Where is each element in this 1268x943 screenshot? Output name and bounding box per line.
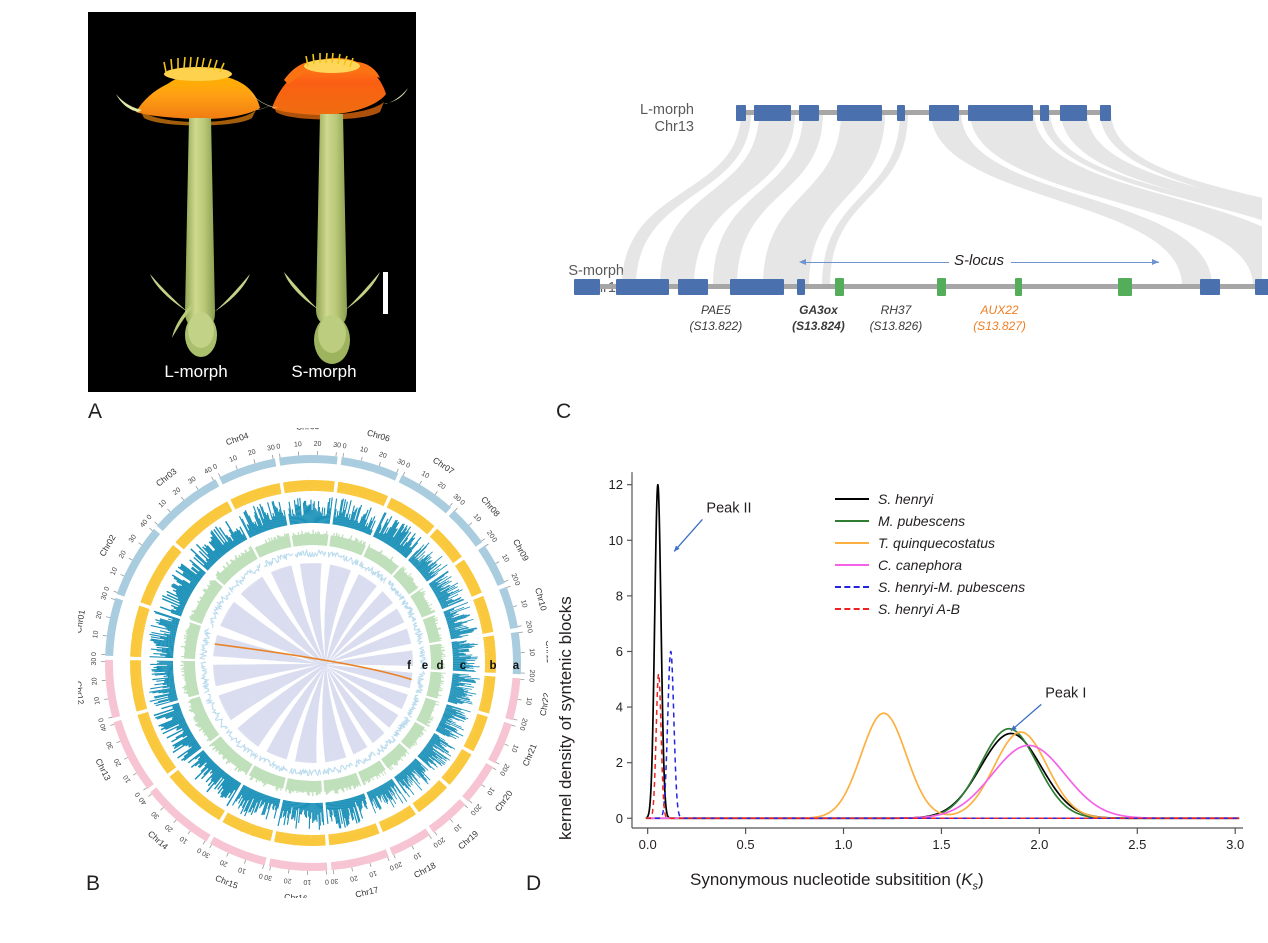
scale-bar bbox=[383, 272, 388, 314]
circos-track-segment bbox=[381, 743, 409, 770]
circos-track-segment bbox=[417, 733, 455, 770]
chr-name-Chr20: Chr20 bbox=[493, 788, 515, 813]
chr-tick-label: 20 bbox=[247, 449, 257, 458]
circos-line-segment bbox=[201, 661, 208, 692]
chr-tick-label: 10 bbox=[359, 446, 368, 455]
chr-tick bbox=[174, 820, 177, 823]
chr-name-Chr15: Chr15 bbox=[214, 873, 240, 891]
chr-tick-label: 20 bbox=[378, 451, 388, 460]
chr-tick-label: 10 bbox=[420, 470, 430, 480]
circos-track-segment bbox=[149, 611, 180, 659]
slocus-label: S-locus bbox=[954, 252, 1004, 269]
chr-tick-label: 0 bbox=[98, 717, 106, 723]
ring-letter-d: d bbox=[436, 660, 443, 672]
chr-name-Chr18: Chr18 bbox=[412, 860, 438, 880]
circos-track-segment bbox=[423, 615, 442, 643]
chr-tick-label: 20 bbox=[113, 757, 123, 767]
l-morph-exon bbox=[1040, 105, 1049, 121]
chr-name-Chr04: Chr04 bbox=[224, 430, 250, 447]
chr-tick-label: 10 bbox=[485, 786, 495, 796]
x-tick-label: 1.5 bbox=[932, 837, 950, 852]
chr-tick-label: 10 bbox=[524, 697, 532, 706]
s-morph-chromosome-bar bbox=[574, 284, 1268, 289]
l-morph-exon bbox=[736, 105, 746, 121]
chr-tick-label: 10 bbox=[412, 850, 422, 860]
chr-tick-label: 30 bbox=[267, 444, 276, 452]
slocus-arrow-right bbox=[1011, 262, 1159, 263]
legend-swatch-s-henryi-a-b bbox=[835, 608, 869, 610]
chr-tick bbox=[352, 867, 353, 871]
chr-tick bbox=[244, 860, 245, 864]
chr-tick bbox=[218, 473, 220, 477]
chr-tick bbox=[518, 699, 522, 700]
gene-label-aux22: AUX22(S13.827) bbox=[955, 302, 1045, 334]
chr-name-Chr14: Chr14 bbox=[146, 829, 170, 852]
chr-tick bbox=[143, 788, 146, 790]
chart-legend: S. henryi M. pubescens T. quinquecostatu… bbox=[835, 488, 1025, 620]
chr-name-Chr19: Chr19 bbox=[456, 828, 480, 851]
legend-swatch-s-henryi bbox=[835, 498, 869, 500]
chr-tick-label: 30 bbox=[187, 476, 197, 486]
chr-tick-label: 10 bbox=[519, 599, 528, 608]
l-morph-exon bbox=[897, 105, 905, 121]
l-morph-exon bbox=[799, 105, 819, 121]
x-axis-title: Synonymous nucleotide subsitition (Ks) bbox=[690, 870, 984, 892]
chr-tick bbox=[434, 832, 436, 835]
chr-tick bbox=[450, 503, 453, 506]
circos-track-segment bbox=[232, 785, 280, 820]
circos-line-segment bbox=[323, 763, 353, 774]
chr-tick-label: 10 bbox=[303, 878, 311, 885]
chr-tick bbox=[485, 544, 488, 546]
chr-tick-label: 30 bbox=[264, 873, 273, 881]
chr-tick-label: 10 bbox=[122, 773, 132, 783]
chr-tick bbox=[388, 857, 389, 861]
chr-tick-label: 40 bbox=[203, 466, 213, 476]
legend-item[interactable]: T. quinquecostatus bbox=[835, 532, 1025, 554]
chr-tick bbox=[106, 617, 110, 618]
ideogram-Chr16 bbox=[269, 858, 328, 871]
chr-tick bbox=[519, 632, 523, 633]
chr-tick-label: 0 bbox=[103, 586, 111, 592]
chr-name-Chr07: Chr07 bbox=[431, 455, 456, 476]
circos-line-segment bbox=[355, 752, 375, 767]
chr-tick-label: 40 bbox=[138, 795, 148, 806]
chr-tick bbox=[167, 509, 170, 512]
chr-tick-label: 0 bbox=[404, 462, 411, 470]
ideogram-Chr09 bbox=[478, 546, 505, 586]
circos-line-segment bbox=[417, 671, 425, 693]
legend-label: M. pubescens bbox=[878, 513, 965, 529]
s-locus-gene-box bbox=[1015, 278, 1022, 296]
circos-line-segment bbox=[402, 600, 416, 622]
chr-tick-label: 0 bbox=[388, 863, 394, 871]
ideogram-Chr12 bbox=[105, 660, 120, 718]
l-morph-chromosome-bar bbox=[736, 110, 1111, 115]
chr-tick bbox=[124, 757, 128, 759]
chr-tick-label: 10 bbox=[158, 499, 169, 510]
chr-tick bbox=[397, 469, 399, 473]
gene-name: RH37 bbox=[851, 302, 941, 318]
ring-letter-c: c bbox=[460, 660, 467, 672]
chr-tick-label: 40 bbox=[100, 723, 109, 733]
chr-tick bbox=[120, 574, 124, 576]
annotation-arrow bbox=[674, 519, 702, 551]
gene-id: (S13.827) bbox=[955, 318, 1045, 334]
chr-tick bbox=[403, 472, 405, 476]
ideogram-Chr06 bbox=[341, 457, 399, 481]
chr-tick bbox=[148, 794, 151, 797]
chr-tick bbox=[435, 491, 437, 494]
circos-track-segment bbox=[448, 673, 480, 704]
ring-letter-e: e bbox=[422, 660, 428, 672]
chr-tick bbox=[254, 459, 255, 463]
y-tick-label: 10 bbox=[609, 533, 623, 548]
panel-b-circos: Chr01Chr02Chr03Chr04Chr05Chr06Chr07Chr08… bbox=[78, 428, 548, 898]
s-locus-gene-box bbox=[835, 278, 844, 296]
chr-tick-label: 20 bbox=[95, 611, 104, 620]
chr-name-Chr06: Chr06 bbox=[366, 428, 391, 444]
circos-links bbox=[213, 563, 413, 763]
chr-tick bbox=[279, 454, 280, 458]
chr-tick-label: 20 bbox=[524, 620, 532, 629]
circos-track-segment bbox=[323, 773, 361, 795]
chr-tick bbox=[272, 455, 273, 459]
chr-tick-label: 10 bbox=[510, 743, 520, 753]
panel-d-ks-density-chart: 0246810120.00.51.01.52.02.53.0Peak IIPea… bbox=[540, 440, 1260, 910]
circos-track-segment bbox=[332, 498, 375, 535]
chr-tick-label: 30 bbox=[330, 877, 339, 885]
chr-tick bbox=[496, 562, 500, 564]
circos-line-segment bbox=[200, 629, 210, 660]
series-curve-m-pubescens bbox=[646, 729, 1239, 819]
l-morph-exon bbox=[837, 105, 882, 121]
chr-tick-label: 20 bbox=[164, 823, 175, 833]
chr-tick bbox=[196, 486, 198, 489]
chr-tick bbox=[343, 453, 344, 457]
chr-tick bbox=[108, 717, 112, 718]
annotation-peak-ii: Peak II bbox=[706, 500, 751, 516]
circos-line-segment bbox=[394, 718, 410, 737]
chr-tick-label: 30 bbox=[333, 442, 342, 450]
l-morph-exon bbox=[1060, 105, 1086, 121]
chr-name-Chr13: Chr13 bbox=[93, 757, 113, 783]
circos-line-segment bbox=[295, 550, 326, 557]
flower-photograph bbox=[88, 12, 416, 392]
chr-tick bbox=[469, 523, 472, 526]
y-tick-label: 12 bbox=[609, 477, 623, 492]
circos-track-segment bbox=[180, 502, 232, 549]
gene-name: PAE5 bbox=[671, 302, 761, 318]
ideogram-Chr20 bbox=[462, 763, 493, 801]
chr-tick-label: 10 bbox=[452, 822, 463, 832]
s-morph-exon bbox=[1200, 279, 1220, 295]
ideogram-Chr10 bbox=[499, 587, 518, 629]
chr-name-Chr01: Chr01 bbox=[78, 609, 87, 634]
chr-tick-label: 20 bbox=[528, 669, 535, 677]
chr-tick bbox=[114, 591, 118, 592]
chr-tick bbox=[103, 635, 107, 636]
series-curve-s-henryi-m-pubescens bbox=[646, 652, 1239, 819]
y-axis-title: kernel density of syntenic blocks bbox=[556, 596, 576, 840]
s-morph-caption: S-morph bbox=[264, 362, 384, 382]
chr-tick-label: 10 bbox=[294, 441, 302, 449]
ideogram-Chr17 bbox=[331, 849, 389, 870]
circos-track-segment bbox=[180, 661, 199, 697]
chr-tick bbox=[203, 841, 205, 844]
chr-tick-label: 0 bbox=[527, 678, 534, 683]
legend-item[interactable]: S. henryi A-B bbox=[835, 598, 1025, 620]
circos-track-segment bbox=[430, 530, 460, 563]
chr-tick-label: 10 bbox=[368, 869, 378, 878]
gene-label-pae5: PAE5(S13.822) bbox=[671, 302, 761, 334]
x-tick-label: 0.0 bbox=[639, 837, 657, 852]
chr-tick-label: 10 bbox=[472, 513, 482, 524]
chr-tick bbox=[518, 626, 522, 627]
chr-tick-label: 20 bbox=[314, 441, 322, 448]
ring-letter-a: a bbox=[513, 660, 520, 672]
legend-label: C. canephora bbox=[878, 557, 962, 573]
circos-track-segment bbox=[416, 698, 439, 727]
chr-tick-label: 20 bbox=[283, 876, 292, 884]
chr-tick-label: 0 bbox=[342, 443, 347, 451]
chr-name-Chr12: Chr12 bbox=[78, 681, 86, 706]
circos-line-segment bbox=[329, 552, 359, 565]
circos-track-segment bbox=[278, 800, 325, 830]
chr-tick-label: 0 bbox=[526, 629, 534, 634]
chr-name-Chr17: Chr17 bbox=[354, 884, 379, 898]
chr-tick-label: 30 bbox=[100, 591, 109, 601]
chr-tick-label: 10 bbox=[92, 630, 100, 639]
circos-line-segment bbox=[408, 695, 419, 717]
chr-tick bbox=[160, 807, 163, 810]
series-curve-t-quinquecostatus bbox=[646, 713, 1239, 818]
ideogram-Chr21 bbox=[488, 722, 512, 763]
chr-tick bbox=[504, 580, 508, 582]
circos-track-segment bbox=[436, 704, 471, 739]
chr-tick-label: 10 bbox=[93, 696, 101, 705]
chr-tick bbox=[412, 846, 414, 850]
chr-tick bbox=[138, 543, 141, 545]
legend-label: T. quinquecostatus bbox=[878, 535, 995, 551]
circos-track-segment bbox=[325, 793, 367, 828]
gene-id: (S13.822) bbox=[671, 318, 761, 334]
s-morph-exon bbox=[678, 279, 708, 295]
s-morph-exon bbox=[730, 279, 784, 295]
chr-tick-label: 20 bbox=[349, 874, 358, 882]
s-morph-exon bbox=[1255, 279, 1268, 295]
chr-tick bbox=[181, 497, 183, 500]
chr-tick-label: 10 bbox=[237, 865, 247, 874]
chr-name-Chr08: Chr08 bbox=[479, 494, 502, 518]
legend-swatch-s-henryi-m-pubescens bbox=[835, 586, 869, 588]
chr-tick bbox=[429, 835, 431, 838]
slocus-arrowhead-left bbox=[799, 259, 806, 265]
legend-swatch-t-quinquecostatus bbox=[835, 542, 869, 544]
chr-tick-label: 30 bbox=[106, 740, 115, 750]
circos-track-segment bbox=[292, 530, 328, 547]
legend-label: S. henryi-M. pubescens bbox=[878, 579, 1025, 595]
chr-tick-label: 30 bbox=[128, 534, 138, 544]
chr-tick-label: 0 bbox=[276, 443, 281, 451]
chr-tick-label: 20 bbox=[219, 858, 229, 868]
chr-tick bbox=[110, 724, 114, 725]
chr-tick bbox=[507, 586, 511, 587]
circos-track-segment bbox=[358, 761, 386, 786]
s-locus-gene-box bbox=[937, 278, 946, 296]
gene-id: (S13.826) bbox=[851, 318, 941, 334]
ring-letter-b: b bbox=[489, 660, 496, 672]
chr-tick bbox=[512, 725, 516, 726]
legend-swatch-c-canephora bbox=[835, 564, 869, 566]
circos-line-segment bbox=[289, 768, 321, 775]
chr-tick bbox=[236, 466, 237, 470]
s-locus-gene-box bbox=[1118, 278, 1132, 296]
circos-line-segment bbox=[264, 554, 292, 567]
ring-letter-f: f bbox=[407, 660, 411, 672]
chr-tick bbox=[111, 598, 115, 599]
chr-tick bbox=[149, 528, 152, 531]
ideogram-Chr18 bbox=[390, 828, 430, 855]
chr-tick-label: 10 bbox=[528, 648, 535, 656]
chr-tick-label: 10 bbox=[229, 455, 239, 464]
legend-label: S. henryi A-B bbox=[878, 601, 960, 617]
legend-item[interactable]: S. henryi bbox=[835, 488, 1025, 510]
chr-tick bbox=[188, 831, 190, 834]
chr-tick-label: 0 bbox=[258, 872, 264, 880]
s-morph-exon bbox=[616, 279, 668, 295]
l-morph-exon bbox=[754, 105, 790, 121]
panel-letter-b: B bbox=[86, 872, 100, 896]
chr-name-Chr03: Chr03 bbox=[154, 466, 179, 488]
circos-track-segment bbox=[181, 622, 201, 659]
chr-tick bbox=[482, 539, 485, 541]
l-morph-exon bbox=[968, 105, 1033, 121]
y-tick-label: 8 bbox=[616, 588, 623, 603]
chr-name-Chr21: Chr21 bbox=[520, 742, 538, 768]
ideogram-Chr15 bbox=[210, 837, 267, 866]
circos-track-segment bbox=[426, 672, 445, 699]
l-morph-caption: L-morph bbox=[136, 362, 256, 382]
chr-tick-label: 10 bbox=[110, 566, 120, 576]
panel-c-synteny: L-morph Chr13 S-morph Chr13 S-locus PAE5… bbox=[556, 80, 1262, 350]
legend-item[interactable]: S. henryi-M. pubescens bbox=[835, 576, 1025, 598]
chr-tick bbox=[155, 522, 158, 525]
legend-item[interactable]: M. pubescens bbox=[835, 510, 1025, 532]
chr-tick-label: 20 bbox=[436, 481, 446, 491]
chr-tick bbox=[513, 719, 517, 720]
circos-track-segment bbox=[393, 566, 418, 595]
x-tick-label: 0.5 bbox=[737, 837, 755, 852]
chr-tick bbox=[420, 481, 422, 484]
chr-tick bbox=[361, 457, 362, 461]
chr-tick bbox=[465, 805, 468, 808]
circos-plot: Chr01Chr02Chr03Chr04Chr05Chr06Chr07Chr08… bbox=[78, 428, 548, 898]
x-tick-label: 1.0 bbox=[834, 837, 852, 852]
l-morph-exon bbox=[1100, 105, 1111, 121]
l-morph-exon bbox=[929, 105, 959, 121]
ideogram-Chr01 bbox=[105, 598, 123, 656]
gene-name: AUX22 bbox=[955, 302, 1045, 318]
chr-tick bbox=[450, 819, 453, 822]
chr-tick bbox=[482, 785, 485, 787]
legend-label: S. henryi bbox=[878, 491, 933, 507]
legend-swatch-m-pubescens bbox=[835, 520, 869, 522]
chr-name-Chr16: Chr16 bbox=[284, 892, 308, 898]
circos-track-segment bbox=[149, 661, 178, 707]
chr-name-Chr05: Chr05 bbox=[296, 428, 320, 432]
circos-track-segment bbox=[410, 588, 435, 618]
panel-letter-a: A bbox=[88, 400, 102, 424]
chr-tick-label: 0 bbox=[91, 652, 98, 656]
chr-tick bbox=[493, 768, 496, 770]
y-tick-label: 0 bbox=[616, 811, 623, 826]
chr-tick bbox=[104, 699, 108, 700]
chr-tick bbox=[496, 762, 500, 764]
chr-tick-label: 0 bbox=[196, 846, 203, 854]
chr-tick bbox=[212, 477, 214, 481]
chr-tick bbox=[133, 773, 136, 775]
legend-item[interactable]: C. canephora bbox=[835, 554, 1025, 576]
circos-track-segment bbox=[239, 501, 287, 538]
x-tick-label: 3.0 bbox=[1226, 837, 1244, 852]
chr-tick bbox=[469, 801, 472, 804]
chr-tick-label: 10 bbox=[500, 553, 510, 563]
y-tick-label: 4 bbox=[616, 700, 623, 715]
chr-tick-label: 30 bbox=[150, 810, 161, 821]
chr-tick bbox=[455, 508, 458, 511]
slocus-arrowhead-right bbox=[1152, 259, 1159, 265]
series-curve-s-henryi-a-b bbox=[646, 674, 1239, 818]
circos-line-segment bbox=[413, 623, 421, 645]
circos-track-segment bbox=[288, 497, 333, 525]
chr-tick-label: 0 bbox=[134, 790, 142, 797]
chr-tick bbox=[117, 741, 121, 743]
chr-name-Chr02: Chr02 bbox=[97, 533, 117, 558]
s-morph-exon bbox=[797, 279, 805, 295]
chr-tick bbox=[379, 462, 380, 466]
y-tick-label: 2 bbox=[616, 755, 623, 770]
chr-tick-label: 30 bbox=[91, 658, 98, 666]
annotation-arrow bbox=[1011, 704, 1041, 730]
ideogram-Chr04 bbox=[219, 459, 276, 485]
chr-tick bbox=[394, 855, 396, 859]
chr-tick-label: 20 bbox=[118, 550, 128, 560]
chr-tick bbox=[505, 744, 509, 746]
chr-tick bbox=[227, 853, 229, 857]
chr-tick bbox=[513, 606, 517, 607]
chr-tick bbox=[370, 863, 371, 867]
annotation-peak-i: Peak I bbox=[1045, 685, 1086, 701]
slocus-arrow-left bbox=[804, 262, 949, 263]
circos-track-segment bbox=[367, 779, 408, 814]
series-curve-c-canephora bbox=[646, 745, 1239, 818]
y-tick-label: 6 bbox=[616, 644, 623, 659]
x-tick-label: 2.0 bbox=[1030, 837, 1048, 852]
chr-tick-label: 20 bbox=[91, 677, 99, 685]
x-tick-label: 2.5 bbox=[1128, 837, 1146, 852]
circos-track-segment bbox=[443, 602, 477, 639]
panel-letter-c: C bbox=[556, 400, 571, 424]
chr-tick bbox=[129, 558, 132, 560]
chr-tick-label: 0 bbox=[212, 463, 219, 471]
s-morph-exon bbox=[574, 279, 600, 295]
chr-name-Chr09: Chr09 bbox=[511, 537, 531, 563]
chr-tick bbox=[270, 867, 271, 871]
chr-tick-label: 40 bbox=[139, 519, 149, 530]
chr-tick-label: 10 bbox=[179, 834, 190, 844]
chr-tick-label: 0 bbox=[518, 725, 526, 731]
